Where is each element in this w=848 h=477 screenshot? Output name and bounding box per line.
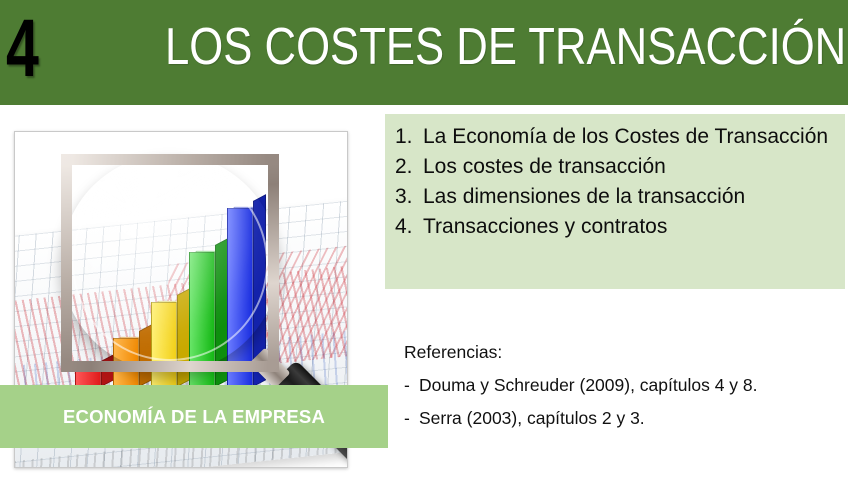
references-heading: Referencias: — [404, 341, 834, 363]
reference-label: Serra (2003), capítulos 2 y 3. — [419, 407, 834, 429]
list-item: 1. La Economía de los Costes de Transacc… — [395, 122, 839, 152]
agenda-item-label: La Economía de los Costes de Transacción — [423, 122, 839, 152]
slide-number: 4 — [6, 8, 37, 90]
agenda-item-label: Los costes de transacción — [423, 152, 839, 182]
list-item: 2. Los costes de transacción — [395, 152, 839, 182]
agenda-item-number: 3. — [395, 182, 423, 212]
agenda-box: 1. La Economía de los Costes de Transacc… — [385, 114, 845, 289]
agenda-item-number: 1. — [395, 122, 423, 152]
header-band: 4 LOS COSTES DE TRANSACCIÓN — [0, 0, 848, 105]
course-banner-label: ECONOMÍA DE LA EMPRESA — [63, 406, 325, 428]
slide-root: 4 LOS COSTES DE TRANSACCIÓN ECONOMÍA DE … — [0, 0, 848, 477]
list-item: - Serra (2003), capítulos 2 y 3. — [404, 407, 834, 429]
page-title: LOS COSTES DE TRANSACCIÓN — [165, 16, 745, 78]
references-section: Referencias: - Douma y Schreuder (2009),… — [404, 341, 834, 440]
list-item: 4. Transacciones y contratos — [395, 212, 839, 242]
bar-green — [189, 252, 215, 394]
reference-dash: - — [404, 374, 419, 396]
agenda-item-number: 4. — [395, 212, 423, 242]
agenda-item-label: Las dimensiones de la transacción — [423, 182, 839, 212]
bar-blue — [227, 208, 253, 394]
agenda-item-number: 2. — [395, 152, 423, 182]
list-item: - Douma y Schreuder (2009), capítulos 4 … — [404, 374, 834, 396]
reference-dash: - — [404, 407, 419, 429]
list-item: 3. Las dimensiones de la transacción — [395, 182, 839, 212]
agenda-item-label: Transacciones y contratos — [423, 212, 839, 242]
agenda-list: 1. La Economía de los Costes de Transacc… — [395, 122, 839, 242]
course-banner: ECONOMÍA DE LA EMPRESA — [0, 385, 388, 448]
bar-chart-3d — [75, 212, 285, 412]
bar-yellow — [151, 302, 177, 394]
reference-label: Douma y Schreuder (2009), capítulos 4 y … — [419, 374, 834, 396]
